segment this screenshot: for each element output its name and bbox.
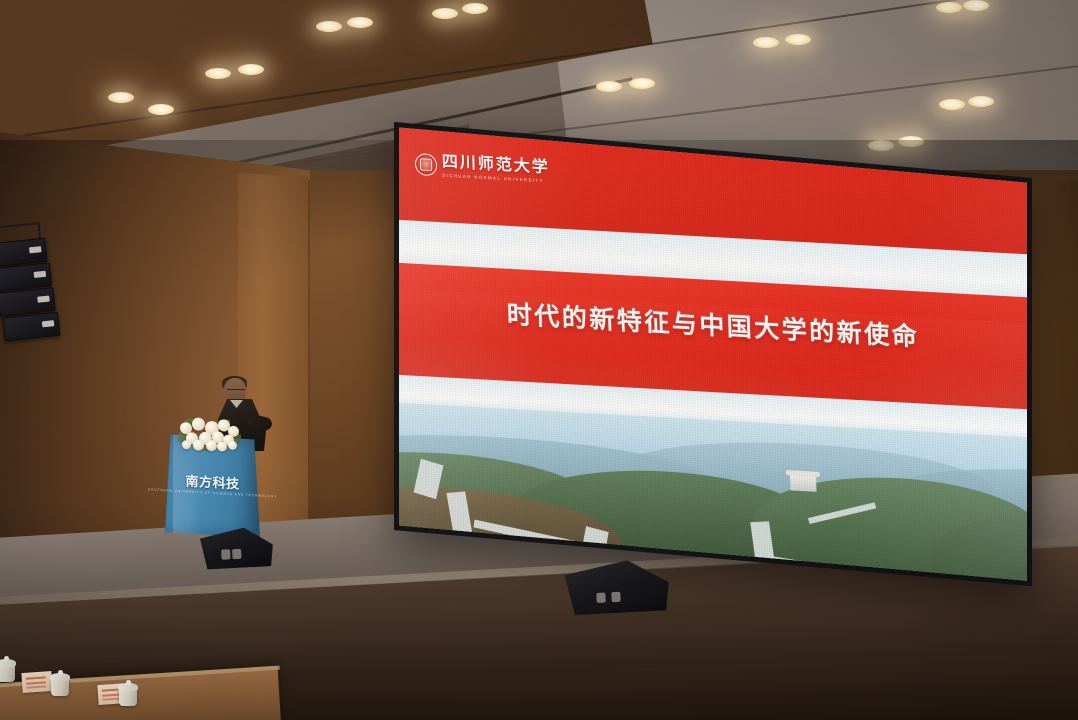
downlight-icon bbox=[108, 92, 134, 103]
downlight-icon bbox=[936, 2, 962, 13]
flower-bloom bbox=[206, 440, 217, 451]
downlight-icon bbox=[347, 17, 373, 28]
auditorium-photo: 四川师范大学 SICHUAN NORMAL UNIVERSITY 时代的新特征与… bbox=[0, 0, 1078, 720]
monitor-port bbox=[221, 550, 231, 560]
flower-bloom bbox=[193, 439, 204, 450]
teacup-2 bbox=[50, 670, 70, 696]
downlight-icon bbox=[629, 78, 655, 89]
monitor-port bbox=[596, 592, 606, 602]
led-video-wall[interactable]: 四川师范大学 SICHUAN NORMAL UNIVERSITY 时代的新特征与… bbox=[394, 122, 1032, 586]
cup-knob bbox=[126, 680, 131, 685]
downlight-icon bbox=[238, 64, 264, 75]
monitor-port bbox=[611, 591, 621, 601]
monitor-cabinet bbox=[198, 526, 274, 570]
cup-body bbox=[0, 665, 15, 682]
flower-bloom bbox=[228, 441, 237, 450]
speaker-badge bbox=[41, 320, 54, 327]
floral-arrangement bbox=[176, 414, 242, 452]
downlight-icon bbox=[753, 37, 779, 48]
stage-monitor-left bbox=[198, 526, 274, 570]
speaker-badge bbox=[37, 296, 50, 303]
glasses-icon bbox=[227, 389, 245, 394]
monitor-cabinet bbox=[562, 558, 671, 615]
cup-knob bbox=[4, 656, 9, 661]
downlight-icon bbox=[205, 68, 231, 79]
stage-monitor-center bbox=[562, 558, 671, 615]
cup-knob bbox=[58, 670, 63, 675]
downlight-icon bbox=[968, 96, 994, 107]
speaker-badge bbox=[33, 271, 46, 278]
teacup-1 bbox=[0, 656, 16, 682]
cup-body bbox=[51, 679, 69, 696]
speaker-badge bbox=[29, 246, 42, 253]
cup-body bbox=[119, 689, 137, 706]
monitor-port bbox=[232, 549, 242, 559]
downlight-icon bbox=[596, 81, 622, 92]
screen-surface: 四川师范大学 SICHUAN NORMAL UNIVERSITY 时代的新特征与… bbox=[399, 127, 1027, 580]
downlight-icon bbox=[939, 99, 965, 110]
downlight-icon bbox=[785, 34, 811, 45]
downlight-icon bbox=[462, 3, 488, 14]
flower-bloom bbox=[182, 440, 191, 449]
downlight-icon bbox=[316, 21, 342, 32]
teacup-3 bbox=[118, 680, 138, 706]
flower-bloom bbox=[217, 441, 227, 451]
downlight-icon bbox=[432, 8, 458, 19]
flower-bloom bbox=[192, 417, 205, 430]
university-seal-icon bbox=[414, 153, 437, 176]
namecard-1 bbox=[21, 671, 52, 693]
downlight-icon bbox=[148, 104, 174, 115]
line-array-box bbox=[2, 312, 60, 342]
great-wall-pavilion bbox=[790, 472, 817, 491]
downlight-icon bbox=[963, 0, 989, 11]
